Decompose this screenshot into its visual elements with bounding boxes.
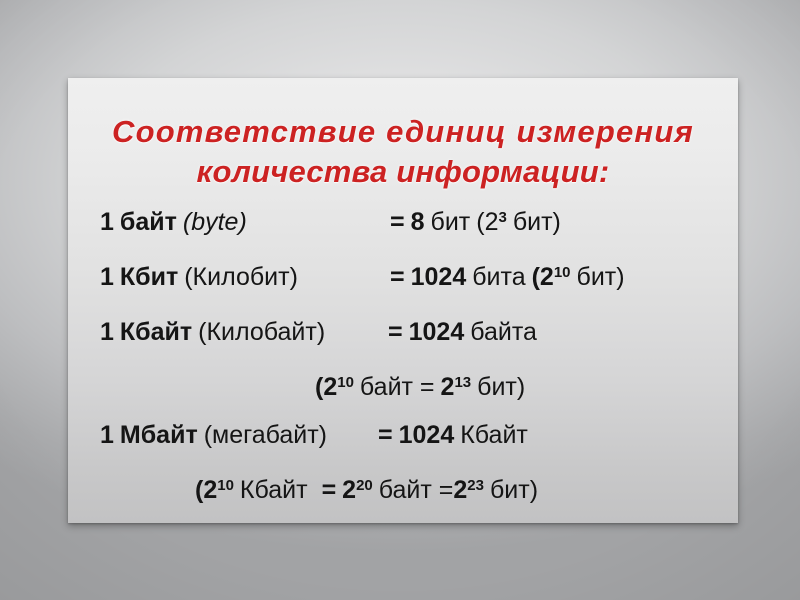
row-kbit-value-unit: бита (472, 263, 525, 291)
row-mbyte-sub-unit-2: байт = (379, 476, 454, 504)
row-kbyte-term: 1Кбайт(Килобайт) (100, 318, 388, 347)
list-item-continuation: (210байт =213бит) (100, 373, 720, 421)
row-byte-power-open: (2 (476, 208, 498, 236)
row-mbyte-value-unit: Кбайт (460, 421, 528, 449)
row-kbyte-number: 1 (100, 318, 114, 346)
row-kbit-term: 1Кбит(Килобит) (100, 263, 390, 292)
row-kbyte-equals: = (388, 318, 403, 346)
row-mbyte-sub-base-2: 2 (342, 476, 356, 504)
row-kbit-equals: = (390, 263, 405, 291)
row-byte-power-exponent: 3 (498, 209, 506, 226)
row-mbyte-number: 1 (100, 421, 114, 449)
row-kbyte-sub-base-2: 2 (441, 373, 455, 401)
row-mbyte-sub-base-3: 2 (453, 476, 467, 504)
page-title-line-1: Соответствие единиц измерения (68, 112, 738, 152)
page-title-line-2: количества информации: (68, 152, 738, 192)
row-byte-unit: байт (120, 208, 177, 236)
row-byte-value: =8бит(23бит) (390, 208, 561, 237)
row-byte-term: 1байт(byte) (100, 208, 390, 237)
row-byte-power-unit: бит) (513, 208, 561, 236)
content-card: Соответствие единиц измерения количества… (68, 78, 738, 523)
slide-canvas: Соответствие единиц измерения количества… (0, 0, 800, 600)
row-mbyte-sub-middle: Кбайт (240, 476, 308, 504)
list-item-continuation: (210Кбайт=220байт =223бит) (100, 476, 720, 524)
row-mbyte-sub-exponent-2: 20 (356, 477, 373, 494)
row-mbyte-value: =1024Кбайт (378, 421, 528, 450)
row-byte-value-unit: бит (431, 208, 471, 236)
list-item: 1Кбайт(Килобайт) =1024байта (100, 318, 720, 373)
row-byte-alias: (byte) (183, 208, 247, 236)
page-title: Соответствие единиц измерения количества… (68, 112, 738, 192)
row-kbyte-sub-exponent-2: 13 (454, 374, 471, 391)
row-kbyte-value-unit: байта (470, 318, 537, 346)
row-byte-amount: 8 (411, 208, 425, 236)
row-kbit-power-open: (2 (532, 263, 554, 291)
list-item: 1Кбит(Килобит) =1024бита(210бит) (100, 263, 720, 318)
row-mbyte-alias: (мегабайт) (204, 421, 327, 449)
row-kbyte-unit: Кбайт (120, 318, 192, 346)
row-kbit-number: 1 (100, 263, 114, 291)
row-byte-number: 1 (100, 208, 114, 236)
list-item: 1Мбайт(мегабайт) =1024Кбайт (100, 421, 720, 476)
row-kbit-power-exponent: 10 (554, 264, 571, 281)
row-kbyte-alias: (Килобайт) (198, 318, 325, 346)
row-kbyte-sub-open: (2 (315, 373, 337, 401)
row-kbit-power-unit: бит) (577, 263, 625, 291)
row-mbyte-sub-unit-3: бит) (490, 476, 538, 504)
row-mbyte-sub-open: (2 (195, 476, 217, 504)
row-kbit-unit: Кбит (120, 263, 178, 291)
row-mbyte-powers: (210Кбайт=220байт =223бит) (100, 476, 538, 505)
row-byte-equals: = (390, 208, 405, 236)
row-mbyte-sub-equals: = (322, 476, 337, 504)
row-kbyte-sub-middle: байт = (360, 373, 435, 401)
row-mbyte-equals: = (378, 421, 393, 449)
row-kbyte-value: =1024байта (388, 318, 537, 347)
unit-equivalence-list: 1байт(byte) =8бит(23бит) 1Кбит(Килобит) … (100, 208, 720, 524)
list-item: 1байт(byte) =8бит(23бит) (100, 208, 720, 263)
row-mbyte-unit: Мбайт (120, 421, 198, 449)
row-kbyte-powers: (210байт =213бит) (100, 373, 525, 402)
row-kbit-value: =1024бита(210бит) (390, 263, 625, 292)
row-mbyte-sub-exponent-1: 10 (217, 477, 234, 494)
row-kbyte-amount: 1024 (409, 318, 465, 346)
row-kbit-alias: (Килобит) (184, 263, 298, 291)
row-mbyte-term: 1Мбайт(мегабайт) (100, 421, 378, 450)
row-kbyte-sub-unit: бит) (477, 373, 525, 401)
row-mbyte-amount: 1024 (399, 421, 455, 449)
row-kbit-amount: 1024 (411, 263, 467, 291)
row-kbyte-sub-exponent-1: 10 (337, 374, 354, 391)
row-mbyte-sub-exponent-3: 23 (467, 477, 484, 494)
